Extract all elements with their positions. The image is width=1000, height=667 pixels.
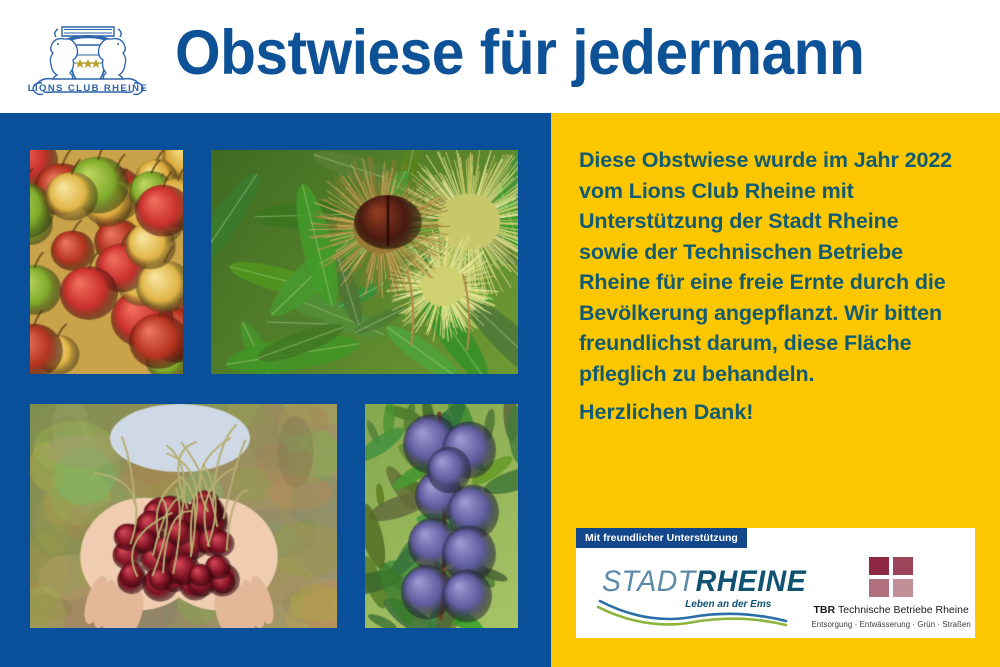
tbr-square-4: [893, 579, 913, 597]
tbr-square-2: [893, 557, 913, 575]
tbr-subtitle: Entsorgung · Entwässerung · Grün · Straß…: [811, 620, 970, 629]
sponsor-logo-row: STADTRHEINE Leben an der Ems TBR Technis: [576, 548, 975, 638]
stadt-rheine-tagline: Leben an der Ems: [685, 599, 771, 610]
crest-banner-text: LIONS CLUB RHEINE: [27, 83, 147, 94]
tbr-square-1: [869, 557, 889, 575]
stadt-rheine-word-first: STADT: [602, 565, 696, 598]
lions-club-crest-icon: LIONS CLUB RHEINE: [0, 0, 175, 113]
stadt-rheine-logo: STADTRHEINE Leben an der Ems: [592, 555, 789, 631]
info-thanks-text: Herzlichen Dank!: [579, 400, 959, 425]
tbr-squares-icon: [869, 557, 913, 597]
tbr-full-name: Technische Betriebe Rheine: [838, 604, 969, 616]
sponsor-box: Mit freundlicher Unterstützung STADTRHEI…: [576, 528, 975, 638]
tbr-name: TBR Technische Betriebe Rheine: [814, 604, 969, 617]
tbr-abbr: TBR: [814, 604, 836, 616]
tbr-logo: TBR Technische Betriebe Rheine Entsorgun…: [807, 554, 975, 632]
photo-chestnut: [211, 150, 518, 374]
photo-apples: [30, 150, 183, 374]
photo-plums: [365, 404, 518, 628]
stadt-rheine-word-second: RHEINE: [696, 565, 807, 598]
photo-cherries: [30, 404, 337, 628]
page-title: Obstwiese für jedermann: [175, 22, 942, 91]
info-body-text: Diese Obstwiese wurde im Jahr 2022 vom L…: [579, 145, 959, 389]
tbr-square-3: [869, 579, 889, 597]
stadt-rheine-wordmark: STADTRHEINE: [602, 565, 806, 599]
sponsor-badge-label: Mit freundlicher Unterstützung: [576, 528, 747, 548]
header: LIONS CLUB RHEINE Obstwiese für jederman…: [0, 0, 1000, 113]
sign-board: LIONS CLUB RHEINE Obstwiese für jederman…: [0, 0, 1000, 667]
